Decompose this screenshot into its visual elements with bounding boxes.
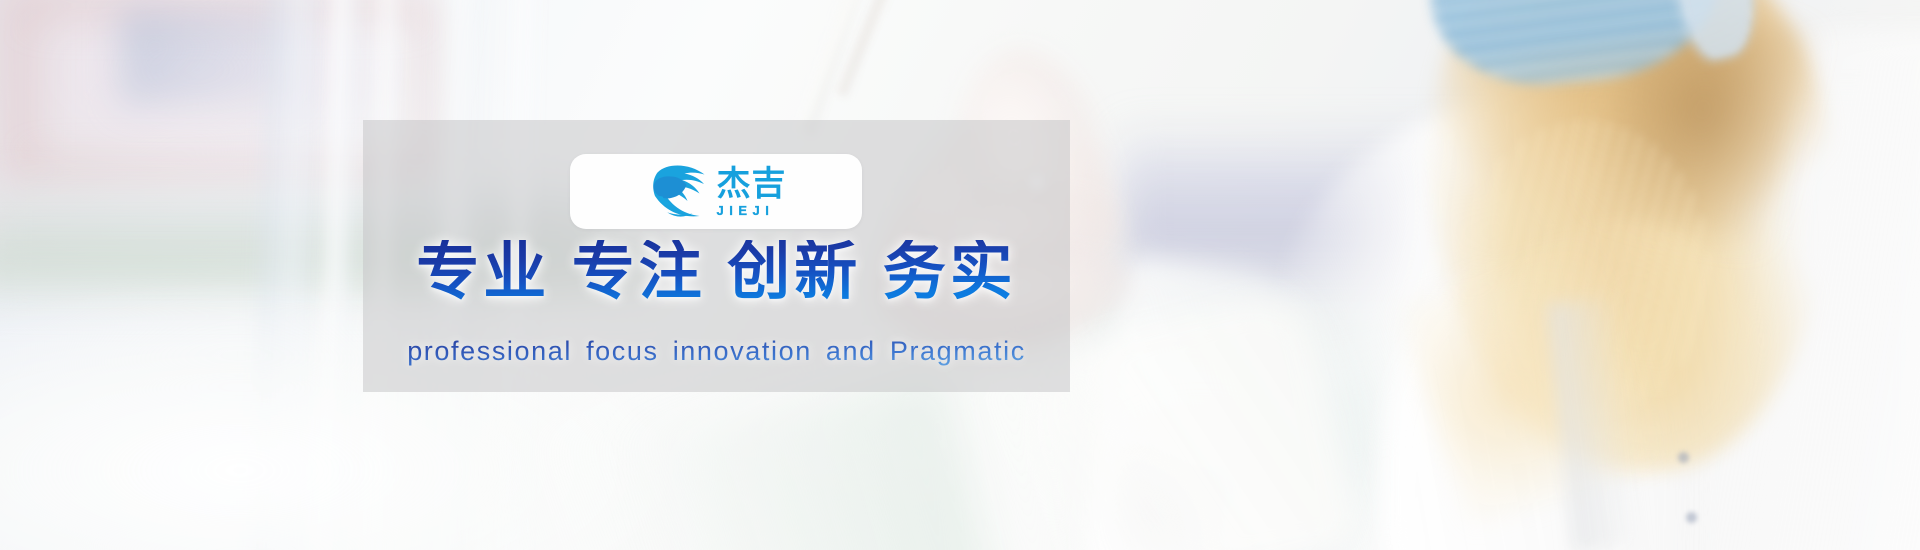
subtitle-container: professional focus innovation and Pragma… [363, 336, 1070, 367]
brand-logo-plate: 杰吉 JIEJI [570, 154, 862, 229]
brand-logo: 杰吉 JIEJI [646, 163, 787, 221]
brand-name-en: JIEJI [717, 204, 775, 217]
subtitle-slogan: professional focus innovation and Pragma… [407, 336, 1026, 367]
headline-container: 专业 专注 创新 务实 [363, 240, 1070, 306]
hero-banner: 杰吉 JIEJI 专业 专注 创新 务实 professional focus … [0, 0, 1920, 550]
brand-logo-wordmark: 杰吉 JIEJI [717, 167, 787, 217]
swirl-wave-icon [646, 163, 708, 221]
brand-name-cn: 杰吉 [717, 167, 787, 201]
headline-slogan: 专业 专注 创新 务实 [416, 240, 1017, 306]
